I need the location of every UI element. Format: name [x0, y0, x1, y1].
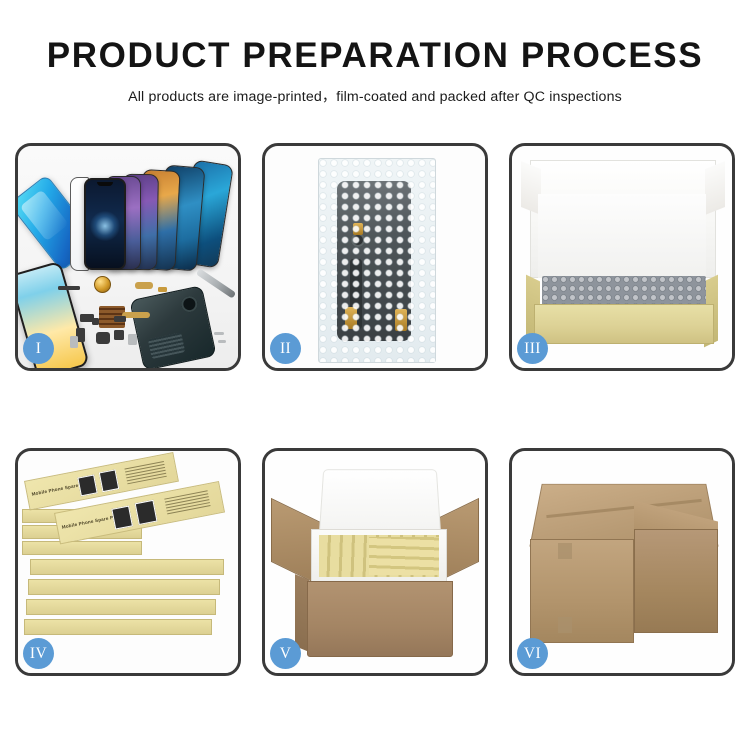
step-panel-2: II — [262, 143, 488, 371]
box-window-image — [111, 506, 133, 530]
carton-front-icon — [307, 581, 453, 657]
screen-burst-icon — [90, 211, 120, 241]
step-number-badge: II — [270, 333, 301, 364]
carton-tape-icon — [558, 617, 572, 633]
phone-backplate-icon — [129, 285, 216, 368]
step-number-badge: IV — [23, 638, 54, 669]
flex-cable-icon — [135, 282, 153, 289]
component-icon — [92, 318, 99, 325]
box-stack: Mobile Phone Spare Parts Mobile Phone Sp… — [18, 451, 238, 673]
step-number-badge: III — [517, 333, 548, 364]
stacked-box — [28, 579, 220, 595]
step-number-badge: V — [270, 638, 301, 669]
screw-icon — [218, 340, 226, 343]
flex-cable-icon — [122, 312, 150, 318]
carton-front-icon — [530, 539, 634, 643]
stacked-box — [24, 619, 212, 635]
gold-connector-icon — [395, 309, 407, 331]
component-icon — [70, 336, 78, 348]
styrofoam-lid-icon — [319, 469, 442, 537]
step-panel-1: I — [15, 143, 241, 371]
wrapped-phone-part-icon — [337, 181, 411, 341]
step-panel-5: V — [262, 448, 488, 676]
box-window-image — [99, 469, 120, 492]
bubble-wrap-bag-icon — [318, 158, 436, 363]
step-2-illustration — [265, 146, 485, 368]
carton-side-icon — [634, 529, 718, 633]
step-number-badge: I — [23, 333, 54, 364]
step-5-illustration — [265, 451, 485, 673]
copper-coil-icon — [94, 276, 111, 293]
component-icon — [58, 286, 80, 290]
connector-icon — [158, 287, 167, 292]
gold-connector-icon — [345, 307, 357, 329]
gold-connector-icon — [353, 223, 363, 235]
step-3-illustration — [512, 146, 732, 368]
step-6-illustration — [512, 451, 732, 673]
packed-boxes-icon — [369, 537, 439, 575]
step-1-illustration — [18, 146, 238, 368]
component-icon — [114, 316, 126, 322]
step-4-illustration: Mobile Phone Spare Parts Mobile Phone Sp… — [18, 451, 238, 673]
stacked-box — [22, 541, 142, 555]
camera-module-icon — [96, 332, 110, 344]
stacked-box — [26, 599, 216, 615]
box-window-image — [135, 500, 158, 525]
page-subtitle: All products are image-printed，film-coat… — [0, 86, 750, 106]
screw-icon — [214, 332, 224, 335]
step-number-badge: VI — [517, 638, 548, 669]
page-title: PRODUCT PREPARATION PROCESS — [0, 38, 750, 75]
box-front-panel-icon — [534, 304, 714, 344]
carton-tape-icon — [558, 543, 572, 559]
component-icon — [114, 330, 124, 340]
stacked-box — [30, 559, 224, 575]
product-preparation-infographic: PRODUCT PREPARATION PROCESS All products… — [0, 0, 750, 750]
box-spec-lines — [164, 490, 211, 516]
step-panel-3: III — [509, 143, 735, 371]
box-spec-lines — [124, 461, 167, 486]
box-window-image — [77, 475, 97, 497]
header: PRODUCT PREPARATION PROCESS All products… — [0, 0, 750, 106]
foam-insert-icon — [538, 194, 706, 278]
component-icon — [128, 334, 137, 345]
steps-grid: I II III — [15, 143, 735, 676]
front-phone-display-icon — [84, 178, 126, 270]
phone-notch-icon — [97, 182, 113, 186]
step-panel-4: Mobile Phone Spare Parts Mobile Phone Sp… — [15, 448, 241, 676]
bubble-wrap-contents-icon — [542, 276, 706, 306]
step-panel-6: VI — [509, 448, 735, 676]
